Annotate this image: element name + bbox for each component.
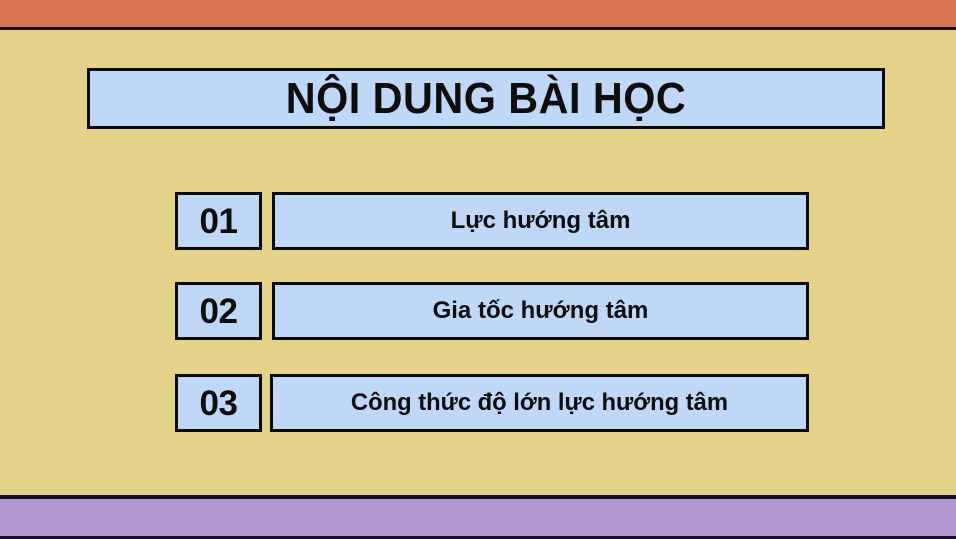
item-label: Gia tốc hướng tâm: [433, 299, 649, 323]
bottom-accent-bar: [0, 495, 956, 539]
item-number: 01: [200, 204, 238, 239]
slide-title-box: NỘI DUNG BÀI HỌC: [87, 68, 885, 129]
item-label: Lực hướng tâm: [451, 209, 631, 233]
item-label-box[interactable]: Gia tốc hướng tâm: [272, 282, 809, 340]
item-number-box: 01: [175, 192, 262, 250]
page-title: NỘI DUNG BÀI HỌC: [286, 77, 686, 121]
top-accent-bar: [0, 0, 956, 30]
item-label-box[interactable]: Lực hướng tâm: [272, 192, 809, 250]
slide-canvas: NỘI DUNG BÀI HỌC 01 Lực hướng tâm 02 Gia…: [0, 0, 956, 539]
item-label-box[interactable]: Công thức độ lớn lực hướng tâm: [270, 374, 809, 432]
item-number: 03: [200, 386, 238, 421]
item-number-box: 02: [175, 282, 262, 340]
item-number: 02: [200, 294, 238, 329]
item-number-box: 03: [175, 374, 262, 432]
item-label: Công thức độ lớn lực hướng tâm: [351, 391, 728, 415]
